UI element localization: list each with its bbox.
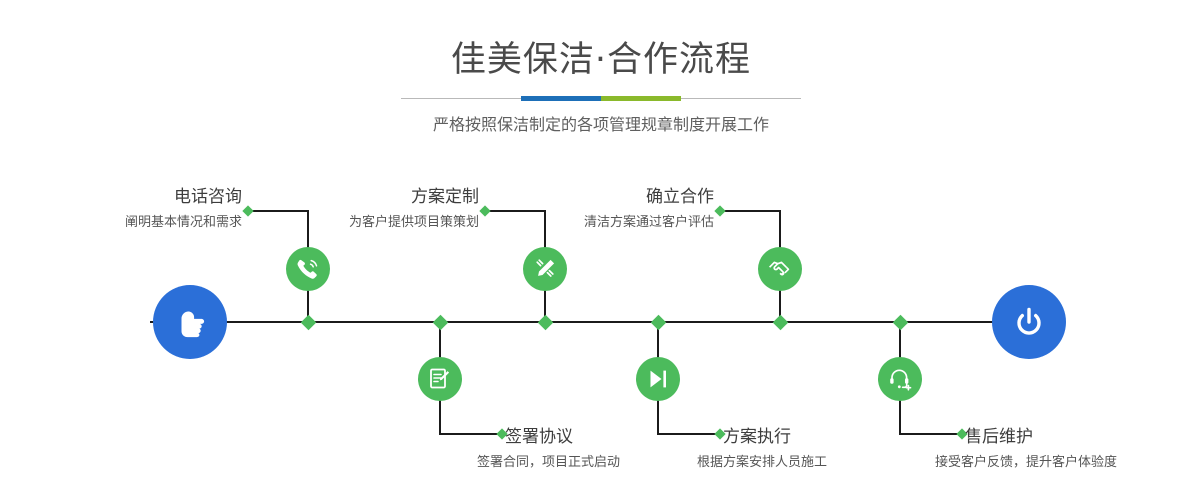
step-3-desc: 为客户提供项目策策划 <box>325 213 479 233</box>
step-2-desc: 签署合同，项目正式启动 <box>477 453 677 473</box>
step-3-label: 方案定制 <box>387 186 479 208</box>
step-6-label: 售后维护 <box>965 426 1085 448</box>
step-5-desc: 清洁方案通过客户评估 <box>560 213 714 233</box>
step-4-desc-block: 根据方案安排人员施工 <box>697 451 887 473</box>
step-1-desc: 阐明基本情况和需求 <box>110 213 242 233</box>
step-1-axis-marker <box>301 315 317 331</box>
step-4-axis-marker <box>651 315 667 331</box>
play-execute-icon <box>645 366 671 392</box>
step-4-label: 方案执行 <box>723 426 843 448</box>
step-2-title: 签署协议 <box>505 426 625 448</box>
power-icon <box>1008 301 1050 343</box>
step-5-desc-block: 清洁方案通过客户评估 <box>560 211 714 233</box>
step-3-branch-horizontal <box>484 210 546 212</box>
customer-service-icon <box>887 366 913 392</box>
document-edit-icon <box>427 366 453 392</box>
step-3-desc-block: 为客户提供项目策策划 <box>325 211 479 233</box>
step-4-node[interactable] <box>636 357 680 401</box>
step-6-desc: 接受客户反馈，提升客户体验度 <box>935 453 1175 473</box>
step-2-branch-horizontal <box>439 433 501 435</box>
step-4-desc: 根据方案安排人员施工 <box>697 453 887 473</box>
pointing-hand-icon <box>169 301 211 343</box>
step-6-title: 售后维护 <box>965 426 1085 448</box>
step-5-label-tip <box>714 205 725 216</box>
step-1-desc-block: 阐明基本情况和需求 <box>110 211 242 233</box>
step-1-title: 电话咨询 <box>150 186 242 208</box>
step-5-title: 确立合作 <box>622 186 714 208</box>
pencil-design-icon <box>532 256 558 282</box>
timeline-axis <box>150 321 1052 323</box>
step-1-label-tip <box>242 205 253 216</box>
phone-call-icon <box>295 256 321 282</box>
step-6-node[interactable] <box>878 357 922 401</box>
step-2-label: 签署协议 <box>505 426 625 448</box>
start-endpoint[interactable] <box>153 285 227 359</box>
step-3-node[interactable] <box>523 247 567 291</box>
step-5-node[interactable] <box>758 247 802 291</box>
step-3-title: 方案定制 <box>387 186 479 208</box>
step-5-branch-horizontal <box>719 210 781 212</box>
step-1-node[interactable] <box>286 247 330 291</box>
step-2-desc-block: 签署合同，项目正式启动 <box>477 451 677 473</box>
step-3-axis-marker <box>538 315 554 331</box>
step-6-axis-marker <box>893 315 909 331</box>
handshake-icon <box>767 256 793 282</box>
step-1-label: 电话咨询 <box>150 186 242 208</box>
step-6-branch-horizontal <box>899 433 961 435</box>
end-endpoint[interactable] <box>992 285 1066 359</box>
step-4-branch-horizontal <box>657 433 719 435</box>
step-2-node[interactable] <box>418 357 462 401</box>
step-1-branch-horizontal <box>247 210 309 212</box>
timeline: 电话咨询 阐明基本情况和需求 签署协议 <box>0 0 1202 502</box>
step-5-axis-marker <box>773 315 789 331</box>
step-3-label-tip <box>479 205 490 216</box>
flow-diagram: 佳美保洁·合作流程 严格按照保洁制定的各项管理规章制度开展工作 <box>0 0 1202 502</box>
step-2-axis-marker <box>433 315 449 331</box>
step-4-title: 方案执行 <box>723 426 843 448</box>
step-6-desc-block: 接受客户反馈，提升客户体验度 <box>935 451 1175 473</box>
step-5-label: 确立合作 <box>622 186 714 208</box>
